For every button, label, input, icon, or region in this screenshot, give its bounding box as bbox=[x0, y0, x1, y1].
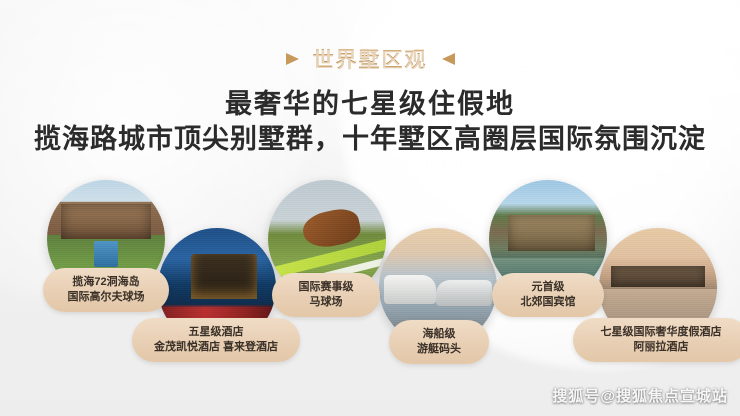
feature-label-line1: 元首级 bbox=[532, 281, 565, 293]
eyebrow: 世界墅区观 bbox=[0, 44, 740, 74]
feature-label-hotel: 五星级酒店 金茂凯悦酒店 喜来登酒店 bbox=[132, 318, 300, 362]
feature-label-line1: 七星级国际奢华度假酒店 bbox=[601, 326, 722, 338]
feature-label-line1: 五星级酒店 bbox=[189, 326, 244, 338]
feature-label-line2: 马球场 bbox=[286, 295, 366, 310]
feature-label-line1: 海船级 bbox=[423, 328, 456, 340]
feature-label-line1: 国际赛事级 bbox=[299, 281, 354, 293]
feature-label-alila: 七星级国际奢华度假酒店 阿丽拉酒店 bbox=[573, 318, 740, 362]
feature-label-line1: 揽海72洞海岛 bbox=[72, 276, 139, 288]
headline-primary: 最奢华的七星级住假地 bbox=[0, 82, 740, 121]
feature-label-line2: 阿丽拉酒店 bbox=[587, 340, 735, 355]
feature-label-guesthouse: 元首级 北郊国宾馆 bbox=[492, 273, 604, 317]
feature-label-polo: 国际赛事级 马球场 bbox=[272, 273, 380, 317]
promo-banner: 世界墅区观 最奢华的七星级住假地 揽海路城市顶尖别墅群，十年墅区高圈层国际氛围沉… bbox=[0, 0, 740, 416]
arrow-right-icon bbox=[442, 53, 455, 65]
headline-secondary: 揽海路城市顶尖别墅群，十年墅区高圈层国际氛围沉淀 bbox=[0, 117, 740, 156]
feature-label-line2: 金茂凯悦酒店 喜来登酒店 bbox=[146, 340, 286, 355]
feature-label-line2: 北郊国宾馆 bbox=[506, 295, 590, 310]
feature-label-line2: 游艇码头 bbox=[403, 342, 475, 357]
feature-label-marina: 海船级 游艇码头 bbox=[389, 320, 489, 364]
arrow-left-icon bbox=[286, 53, 299, 65]
feature-label-line2: 国际高尔夫球场 bbox=[57, 290, 155, 305]
feature-label-golf: 揽海72洞海岛 国际高尔夫球场 bbox=[43, 268, 169, 312]
eyebrow-label: 世界墅区观 bbox=[313, 44, 428, 74]
watermark: 搜狐号@搜狐焦点宣城站 bbox=[552, 385, 728, 406]
